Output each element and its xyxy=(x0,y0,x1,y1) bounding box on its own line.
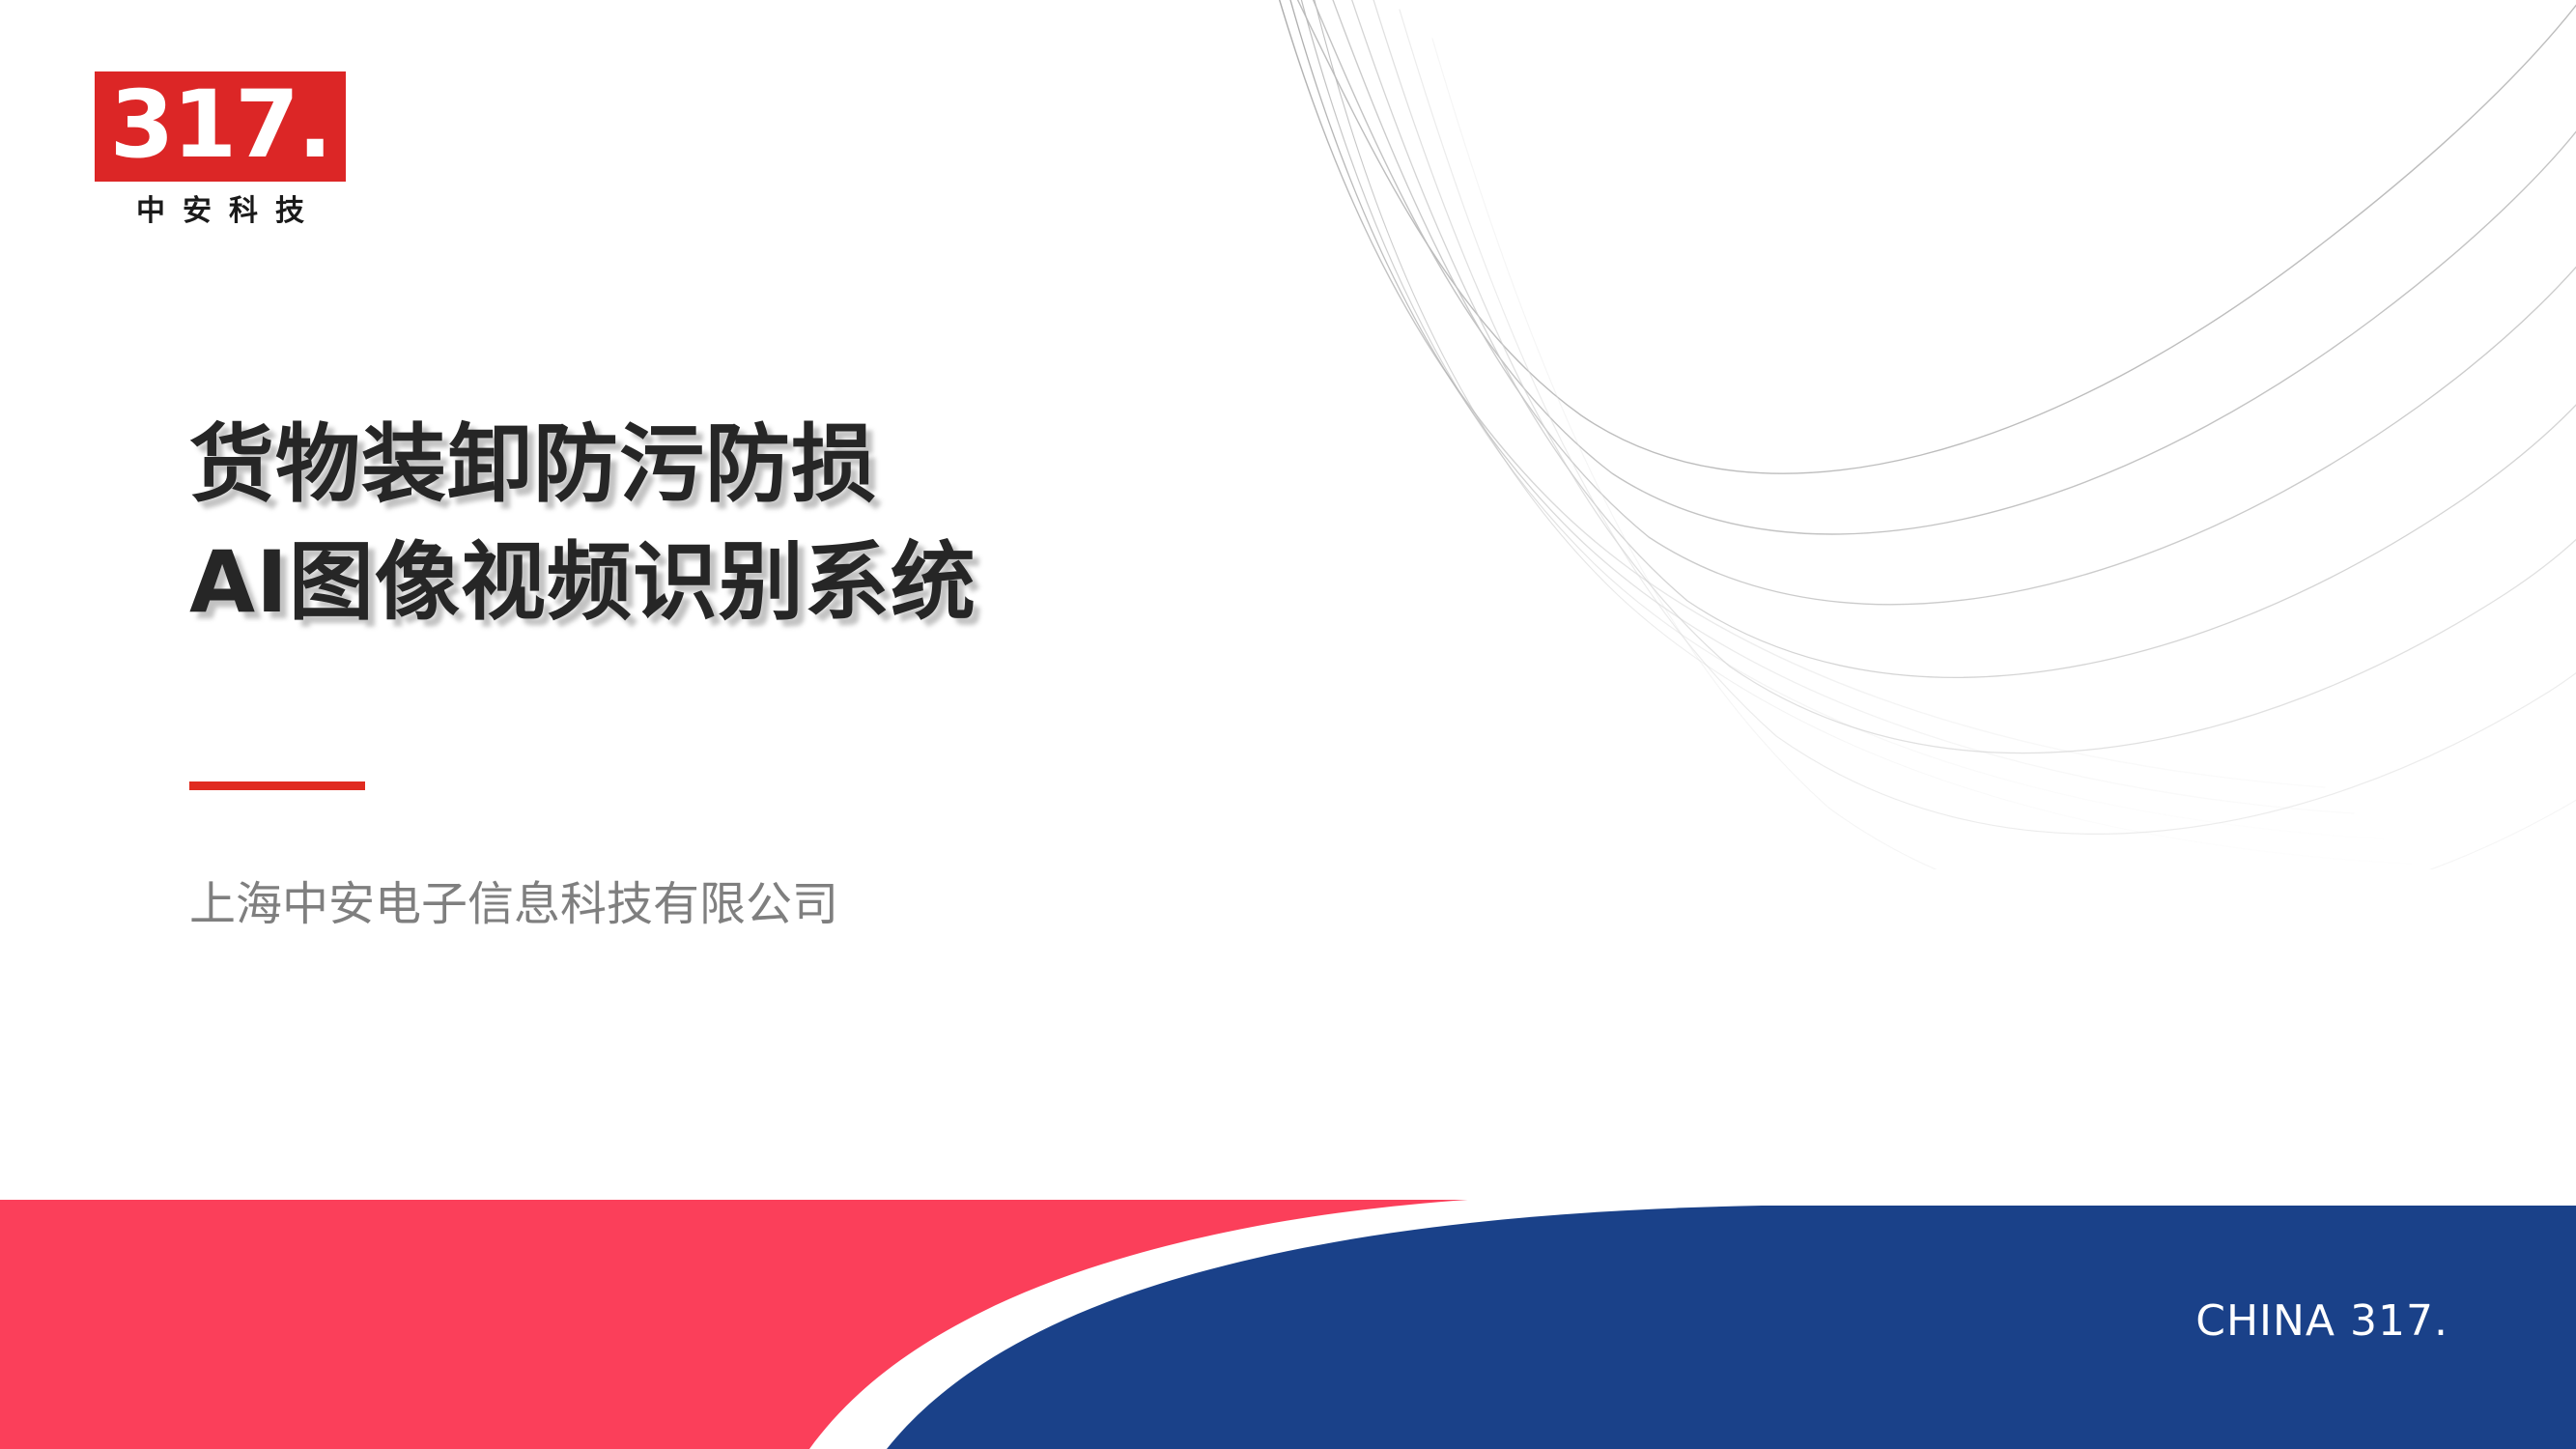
cover-slide: 317. 中安科技 货物装卸防污防损 AI图像视频识别系统 上海中安电子信息科技… xyxy=(0,0,2576,1449)
headline-block: 货物装卸防污防损 AI图像视频识别系统 xyxy=(189,406,1445,641)
logo-subtext: 中安科技 xyxy=(95,195,346,228)
logo-badge-text: 317. xyxy=(110,78,331,171)
decorative-curves xyxy=(1262,0,2576,869)
red-divider xyxy=(189,781,365,790)
footer-label: CHINA 317. xyxy=(2195,1296,2449,1347)
footer-band: CHINA 317. xyxy=(0,1200,2576,1449)
title-line-2: AI图像视频识别系统 xyxy=(189,524,1445,641)
title-line-1: 货物装卸防污防损 xyxy=(189,406,1445,524)
logo-badge: 317. xyxy=(95,71,346,182)
footer-shapes xyxy=(0,1200,2576,1449)
company-subtitle: 上海中安电子信息科技有限公司 xyxy=(189,873,838,935)
brand-logo: 317. 中安科技 xyxy=(95,71,346,228)
